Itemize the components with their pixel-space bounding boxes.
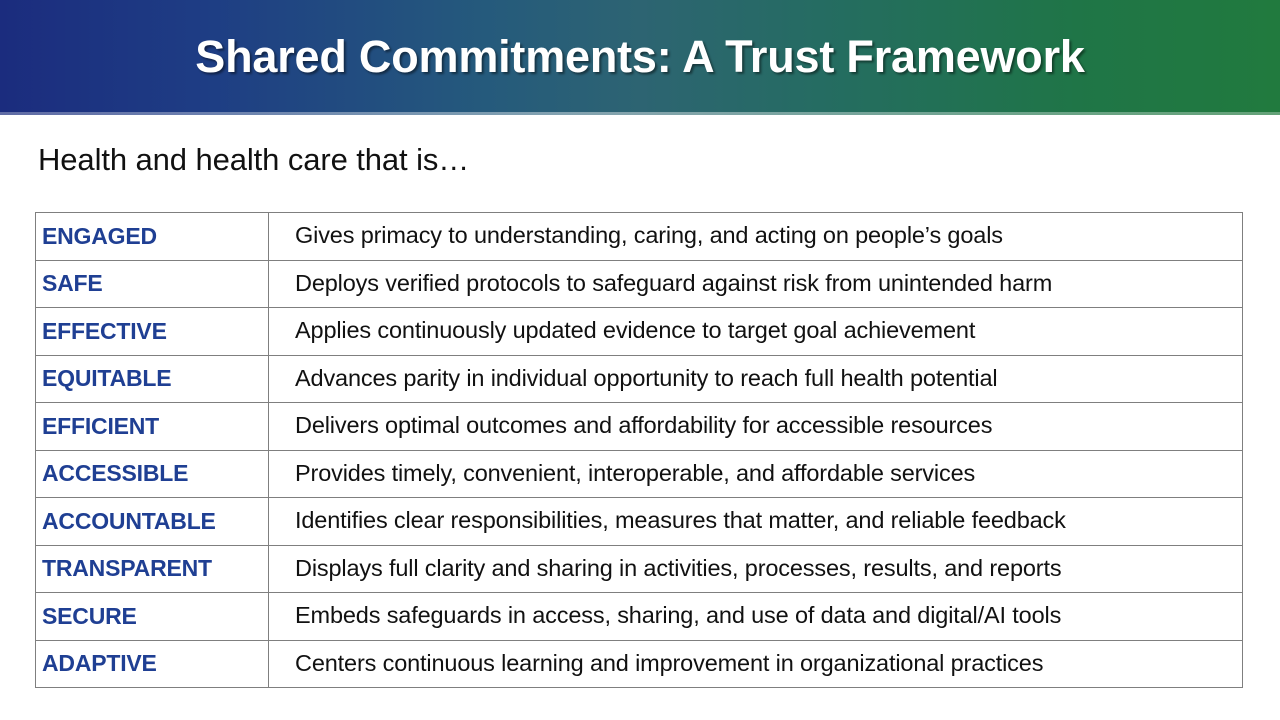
commitment-description: Provides timely, convenient, interoperab… <box>269 450 1243 498</box>
slide-subtitle: Health and health care that is… <box>38 142 469 178</box>
table-row: ADAPTIVE Centers continuous learning and… <box>36 640 1243 688</box>
commitment-description: Centers continuous learning and improvem… <box>269 640 1243 688</box>
commitment-term: ACCOUNTABLE <box>36 498 269 546</box>
commitment-description: Gives primacy to understanding, caring, … <box>269 213 1243 261</box>
trust-framework-table: ENGAGED Gives primacy to understanding, … <box>35 212 1243 688</box>
commitment-description: Delivers optimal outcomes and affordabil… <box>269 403 1243 451</box>
table-row: EQUITABLE Advances parity in individual … <box>36 355 1243 403</box>
table-row: ACCESSIBLE Provides timely, convenient, … <box>36 450 1243 498</box>
commitment-term: EFFECTIVE <box>36 308 269 356</box>
title-band: Shared Commitments: A Trust Framework <box>0 0 1280 115</box>
commitment-description: Advances parity in individual opportunit… <box>269 355 1243 403</box>
commitment-term: SECURE <box>36 593 269 641</box>
commitment-term: ADAPTIVE <box>36 640 269 688</box>
table-row: ENGAGED Gives primacy to understanding, … <box>36 213 1243 261</box>
table-body: ENGAGED Gives primacy to understanding, … <box>36 213 1243 688</box>
table-row: EFFICIENT Delivers optimal outcomes and … <box>36 403 1243 451</box>
commitment-description: Identifies clear responsibilities, measu… <box>269 498 1243 546</box>
commitment-description: Displays full clarity and sharing in act… <box>269 545 1243 593</box>
commitment-description: Applies continuously updated evidence to… <box>269 308 1243 356</box>
commitment-description: Embeds safeguards in access, sharing, an… <box>269 593 1243 641</box>
table-row: TRANSPARENT Displays full clarity and sh… <box>36 545 1243 593</box>
table-row: SAFE Deploys verified protocols to safeg… <box>36 260 1243 308</box>
commitment-term: ACCESSIBLE <box>36 450 269 498</box>
commitment-description: Deploys verified protocols to safeguard … <box>269 260 1243 308</box>
commitment-term: TRANSPARENT <box>36 545 269 593</box>
commitment-term: EFFICIENT <box>36 403 269 451</box>
page-title: Shared Commitments: A Trust Framework <box>195 31 1084 83</box>
slide: Shared Commitments: A Trust Framework He… <box>0 0 1280 720</box>
commitment-term: EQUITABLE <box>36 355 269 403</box>
table-row: ACCOUNTABLE Identifies clear responsibil… <box>36 498 1243 546</box>
table-row: EFFECTIVE Applies continuously updated e… <box>36 308 1243 356</box>
table-row: SECURE Embeds safeguards in access, shar… <box>36 593 1243 641</box>
commitment-term: ENGAGED <box>36 213 269 261</box>
commitment-term: SAFE <box>36 260 269 308</box>
